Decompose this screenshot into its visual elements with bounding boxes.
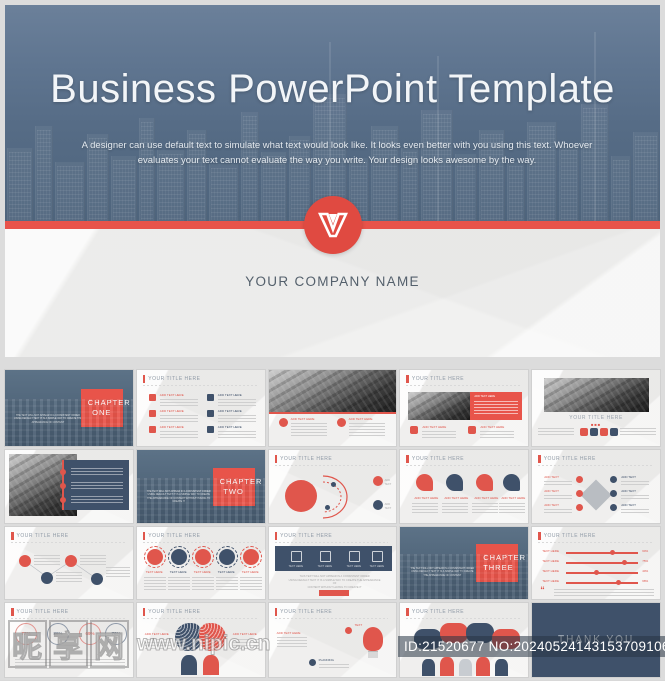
slide-title: YOUR TITLE HERE (406, 608, 464, 616)
badge-icon (337, 418, 346, 427)
company-name: YOUR COMPANY NAME (5, 274, 660, 289)
list-icon (207, 394, 214, 401)
title-rule (143, 542, 257, 543)
title-bars-icon (406, 375, 409, 383)
percent-value: 86% (47, 623, 69, 645)
slide-thumb-lightbulb-diagram[interactable]: YOUR TITLE HERE TEXT PLANNING ADD TEXT H… (269, 603, 397, 677)
bar-icon (372, 551, 383, 562)
feature-icon (580, 428, 588, 436)
donut-stat (243, 549, 259, 565)
list-icon (149, 410, 156, 417)
pin-icon (476, 474, 493, 491)
slide-thumb-two-heads-brain[interactable]: YOUR TITLE HERE ADD TEXT HERE ADD TEXT H… (137, 603, 265, 677)
slider-track[interactable] (566, 572, 638, 574)
slide-title: YOUR TITLE HERE (532, 415, 660, 421)
person-icon (476, 657, 490, 676)
person-icon (459, 659, 472, 676)
node-icon (41, 572, 53, 584)
donut-stat (147, 549, 163, 565)
list-icon (468, 426, 476, 434)
percent-value: 69% (79, 623, 101, 645)
slider-track[interactable] (566, 582, 638, 584)
step-icon (373, 500, 383, 510)
navy-icon-bar: TEXT HERE TEXT HERE TEXT HERE TEXT HERE (275, 546, 392, 571)
slider-handle[interactable] (610, 550, 615, 555)
speech-bubble (492, 629, 520, 649)
slide-thumb-five-donut-stats[interactable]: YOUR TITLE HERE TEXT HERE TEXT HERE TEXT… (137, 527, 265, 599)
slide-thumb-thank-you[interactable]: THANK YOU (532, 603, 660, 677)
title-rule (143, 618, 257, 619)
diamond-shape (581, 479, 612, 510)
title-bars-icon (143, 608, 146, 616)
bar-icon (320, 551, 331, 562)
title-bars-icon (538, 455, 541, 463)
chapter-label: CHAPTERTWO (213, 468, 255, 506)
slide-thumb-photo-red-panel[interactable]: YOUR TITLE HERE ADD TEXT HERE ADD TEXT H… (400, 370, 528, 446)
list-icon (149, 426, 156, 433)
pin-icon (446, 474, 463, 491)
title-rule (143, 385, 257, 386)
photo-steam-locomotive (544, 378, 649, 412)
slide-thumb-navy-icon-bar[interactable]: YOUR TITLE HERE TEXT HERE TEXT HERE TEXT… (269, 527, 397, 599)
feature-icon (590, 428, 598, 436)
feature-icon (610, 428, 618, 436)
bar-icon (349, 551, 360, 562)
title-rule (538, 465, 652, 466)
title-bars-icon (406, 608, 409, 616)
brain-left-icon (175, 623, 202, 651)
slide-thumb-four-percent-circles[interactable]: YOUR TITLE HERE 72% 86% 69% 76% (5, 603, 133, 677)
list-icon (410, 426, 418, 434)
hero-banner: Business PowerPoint Template A designer … (5, 5, 660, 222)
brain-right-icon (199, 623, 226, 651)
navy-list-panel (63, 460, 129, 510)
title-rule (275, 618, 389, 619)
person-icon (440, 657, 454, 676)
donut-stat (195, 549, 211, 565)
title-bars-icon (275, 532, 278, 540)
list-icon (207, 426, 214, 433)
hero-subtitle: A designer can use default text to simul… (77, 138, 597, 168)
thumbnail-row: YOUR TITLE HERE 72% 86% 69% 76% YOUR TIT… (5, 603, 660, 677)
thumbnail-row: THE TEXT WILL NOT APPEAR IN A CONSISTENT… (5, 370, 660, 446)
donut-stat (219, 549, 235, 565)
slide-title: YOUR TITLE HERE (538, 455, 596, 463)
slide-thumb-chapter-two[interactable]: THE TEXT WILL NOT APPEAR IN A CONSISTENT… (137, 450, 265, 523)
slide-title: YOUR TITLE HERE (406, 375, 464, 383)
read-more-button[interactable] (319, 590, 349, 596)
donut-stat (171, 549, 187, 565)
percent-value: 72% (15, 623, 37, 645)
title-bars-icon (11, 608, 14, 616)
thumbnail-row: THE TEXT WILL NOT APPEAR IN A CONSISTENT… (5, 450, 660, 523)
hero-title: Business PowerPoint Template (5, 67, 660, 112)
slide-title: YOUR TITLE HERE (406, 455, 464, 463)
slide-thumb-node-network[interactable]: YOUR TITLE HERE (5, 527, 133, 599)
step-icon (373, 476, 383, 486)
title-bars-icon (143, 532, 146, 540)
quote-mark-icon: “ (540, 587, 545, 594)
bullet-icon (309, 659, 316, 666)
title-rule (11, 618, 125, 619)
slide-title: YOUR TITLE HERE (275, 455, 333, 463)
slide-title: YOUR TITLE HERE (143, 375, 201, 383)
title-rule (406, 618, 520, 619)
chapter-label: CHAPTERTHREE (476, 544, 518, 582)
badge-icon (279, 418, 288, 427)
title-bars-icon (538, 532, 541, 540)
page-root: Business PowerPoint Template A designer … (0, 0, 665, 680)
list-icon (207, 410, 214, 417)
title-rule (275, 542, 389, 543)
thank-you-text: THANK YOU (532, 635, 660, 646)
slide-thumb-photo-banner-icons[interactable]: YOUR TITLE HERE ■■■ (532, 370, 660, 446)
slide-thumb-speech-bubble-people[interactable]: YOUR TITLE HERE (400, 603, 528, 677)
thumbnail-row: YOUR TITLE HERE (5, 527, 660, 599)
slider-track[interactable] (566, 562, 638, 564)
slide-title: YOUR TITLE HERE (275, 532, 333, 540)
title-rule (538, 542, 652, 543)
node-icon (65, 555, 77, 567)
title-bars-icon (406, 455, 409, 463)
speech-bubble (466, 623, 494, 643)
list-icon (149, 394, 156, 401)
chapter-label: CHAPTERONE (81, 389, 123, 427)
slider-track[interactable] (566, 552, 638, 554)
slide-thumb-slider-bars-quote[interactable]: YOUR TITLE HERE TEXT HERE 60% TEXT HERE … (532, 527, 660, 599)
slide-title: YOUR TITLE HERE (275, 608, 333, 616)
slide-title: YOUR TITLE HERE (11, 608, 69, 616)
slide-title: YOUR TITLE HERE (143, 608, 201, 616)
percent-value: 76% (105, 623, 127, 645)
slide-title: YOUR TITLE HERE (143, 532, 201, 540)
slider-handle[interactable] (594, 570, 599, 575)
title-bars-icon (275, 455, 278, 463)
head-silhouette-icon (203, 655, 219, 675)
red-text-panel: ADD TEXT HERE (470, 392, 522, 420)
title-rule (406, 385, 520, 386)
slide-thumb-diamond-six-list[interactable]: YOUR TITLE HERE ADD TEXT ADD TEXT ADD TE… (532, 450, 660, 523)
speech-bubble (440, 623, 468, 643)
title-bars-icon (275, 608, 278, 616)
pin-icon (503, 474, 520, 491)
slide-thumb-chapter-three[interactable]: THE TEXT WILL NOT APPEAR IN A CONSISTENT… (400, 527, 528, 599)
feature-icon (600, 428, 608, 436)
title-bars-icon (143, 375, 146, 383)
slider-handle[interactable] (622, 560, 627, 565)
slide-thumb-six-icon-list[interactable]: YOUR TITLE HERE ADD TEXT HERE ADD TEXT H… (137, 370, 265, 446)
slide-thumb-photo-navy-list[interactable] (5, 450, 133, 523)
slide-thumb-photo-two-column[interactable]: ADD TEXT HERE ADD TEXT HERE (269, 370, 397, 446)
wps-w-logo-icon (304, 196, 362, 254)
slide-title: YOUR TITLE HERE (538, 532, 596, 540)
photo-vintage-car (269, 370, 397, 412)
head-silhouette-icon (181, 655, 197, 675)
pin-icon (416, 474, 433, 491)
title-rule (275, 465, 389, 466)
lightbulb-icon (363, 627, 383, 651)
person-icon (422, 659, 435, 676)
slide-thumbnail-grid: THE TEXT WILL NOT APPEAR IN A CONSISTENT… (5, 370, 660, 681)
slider-handle[interactable] (616, 580, 621, 585)
bar-icon (291, 551, 302, 562)
speech-bubble (414, 629, 442, 649)
node-icon (19, 555, 31, 567)
bullet-icon (345, 627, 352, 634)
slide-thumb-chapter-one[interactable]: THE TEXT WILL NOT APPEAR IN A CONSISTENT… (5, 370, 133, 446)
person-icon (495, 659, 508, 676)
slide-thumb-circular-process[interactable]: YOUR TITLE HERE ADD TEXT ADD TEXT (269, 450, 397, 523)
node-icon (91, 573, 103, 585)
title-rule (406, 465, 520, 466)
photo-machinery (408, 392, 470, 420)
slide-thumb-four-pin-icons[interactable]: YOUR TITLE HERE ADD TEXT HERE ADD TEXT H… (400, 450, 528, 523)
